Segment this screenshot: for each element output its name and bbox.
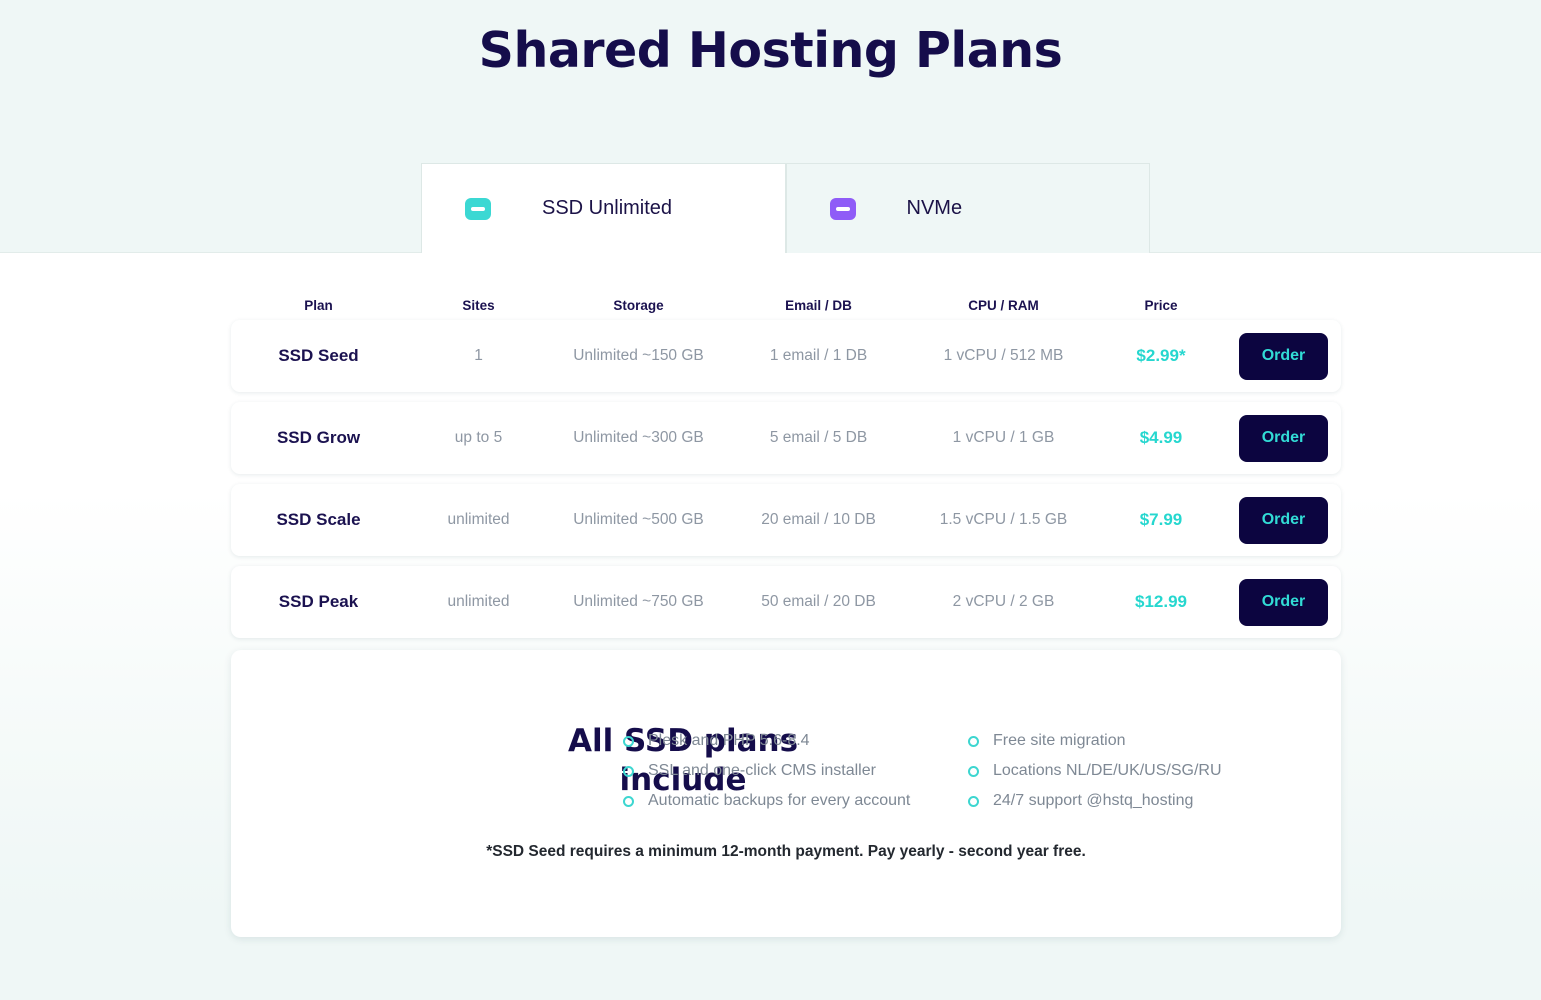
circle-bullet-icon xyxy=(623,796,634,807)
feature-label: Free site migration xyxy=(993,732,1126,750)
tab-ssd-unlimited-label: SSD Unlimited xyxy=(542,197,672,220)
order-button[interactable]: Order xyxy=(1239,415,1328,462)
table-row: SSD Seed 1 Unlimited ~150 GB 1 email / 1… xyxy=(231,320,1341,392)
cell-plan: SSD Peak xyxy=(231,592,406,612)
header-cpu-ram: CPU / RAM xyxy=(911,298,1096,313)
cell-order: Order xyxy=(1226,415,1341,462)
cell-sites: 1 xyxy=(406,347,551,365)
cell-storage: Unlimited ~500 GB xyxy=(551,511,726,529)
header-email-db: Email / DB xyxy=(726,298,911,313)
table-row: SSD Scale unlimited Unlimited ~500 GB 20… xyxy=(231,484,1341,556)
cell-cpu-ram: 1 vCPU / 1 GB xyxy=(911,429,1096,447)
list-item: 24/7 support @hstq_hosting xyxy=(968,786,1222,816)
cell-storage: Unlimited ~300 GB xyxy=(551,429,726,447)
list-item: Locations NL/DE/UK/US/SG/RU xyxy=(968,756,1222,786)
list-item: Automatic backups for every account xyxy=(623,786,910,816)
cell-email-db: 50 email / 20 DB xyxy=(726,593,911,611)
cell-email-db: 1 email / 1 DB xyxy=(726,347,911,365)
features-list-right: Free site migration Locations NL/DE/UK/U… xyxy=(968,726,1222,816)
tab-nvme-label: NVMe xyxy=(907,197,963,220)
cell-plan: SSD Grow xyxy=(231,428,406,448)
cell-cpu-ram: 2 vCPU / 2 GB xyxy=(911,593,1096,611)
cell-sites: unlimited xyxy=(406,511,551,529)
cell-price: $4.99 xyxy=(1096,428,1226,448)
cell-sites: up to 5 xyxy=(406,429,551,447)
cell-storage: Unlimited ~150 GB xyxy=(551,347,726,365)
cell-storage: Unlimited ~750 GB xyxy=(551,593,726,611)
cell-email-db: 20 email / 10 DB xyxy=(726,511,911,529)
circle-bullet-icon xyxy=(968,796,979,807)
features-list-left: Plesk and PHP 5.6-8.4 SSL and one-click … xyxy=(623,726,910,816)
cell-cpu-ram: 1.5 vCPU / 1.5 GB xyxy=(911,511,1096,529)
feature-label: Plesk and PHP 5.6-8.4 xyxy=(648,732,810,750)
list-item: SSL and one-click CMS installer xyxy=(623,756,910,786)
plan-type-tabs: SSD Unlimited NVMe xyxy=(421,163,1150,254)
pricing-table: Plan Sites Storage Email / DB CPU / RAM … xyxy=(231,290,1341,648)
circle-bullet-icon xyxy=(968,736,979,747)
storage-drive-icon xyxy=(830,198,856,220)
table-row: SSD Peak unlimited Unlimited ~750 GB 50 … xyxy=(231,566,1341,638)
cell-email-db: 5 email / 5 DB xyxy=(726,429,911,447)
storage-drive-icon xyxy=(465,198,491,220)
circle-bullet-icon xyxy=(623,736,634,747)
circle-bullet-icon xyxy=(623,766,634,777)
features-card: All SSD plans include Plesk and PHP 5.6-… xyxy=(231,650,1341,937)
cell-plan: SSD Scale xyxy=(231,510,406,530)
header-plan: Plan xyxy=(231,298,406,313)
cell-price: $7.99 xyxy=(1096,510,1226,530)
page-title: Shared Hosting Plans xyxy=(0,22,1541,79)
tab-ssd-unlimited[interactable]: SSD Unlimited xyxy=(421,163,786,254)
cell-price: $2.99* xyxy=(1096,346,1226,366)
cell-cpu-ram: 1 vCPU / 512 MB xyxy=(911,347,1096,365)
cell-sites: unlimited xyxy=(406,593,551,611)
feature-label: 24/7 support @hstq_hosting xyxy=(993,792,1193,810)
cell-order: Order xyxy=(1226,333,1341,380)
cell-plan: SSD Seed xyxy=(231,346,406,366)
table-row: SSD Grow up to 5 Unlimited ~300 GB 5 ema… xyxy=(231,402,1341,474)
cell-price: $12.99 xyxy=(1096,592,1226,612)
header-price: Price xyxy=(1096,298,1226,313)
footnote: *SSD Seed requires a minimum 12-month pa… xyxy=(231,843,1341,861)
cell-order: Order xyxy=(1226,579,1341,626)
list-item: Free site migration xyxy=(968,726,1222,756)
list-item: Plesk and PHP 5.6-8.4 xyxy=(623,726,910,756)
order-button[interactable]: Order xyxy=(1239,333,1328,380)
header-storage: Storage xyxy=(551,298,726,313)
cell-order: Order xyxy=(1226,497,1341,544)
feature-label: SSL and one-click CMS installer xyxy=(648,762,876,780)
order-button[interactable]: Order xyxy=(1239,579,1328,626)
table-header-row: Plan Sites Storage Email / DB CPU / RAM … xyxy=(231,290,1341,320)
header-sites: Sites xyxy=(406,298,551,313)
circle-bullet-icon xyxy=(968,766,979,777)
feature-label: Locations NL/DE/UK/US/SG/RU xyxy=(993,762,1222,780)
tab-nvme[interactable]: NVMe xyxy=(786,163,1151,254)
feature-label: Automatic backups for every account xyxy=(648,792,910,810)
order-button[interactable]: Order xyxy=(1239,497,1328,544)
